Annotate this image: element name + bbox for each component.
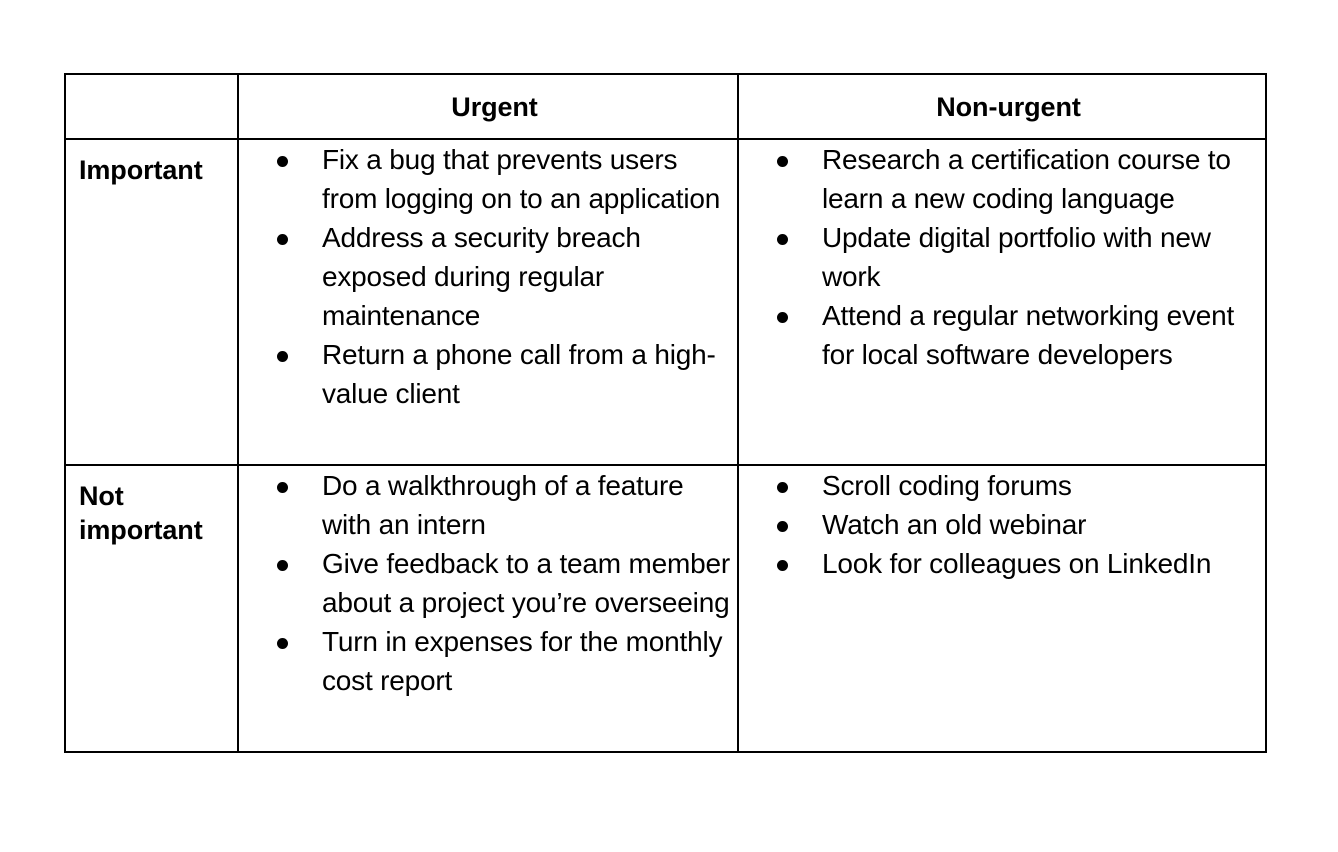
list-item: Attend a regular networking event for lo… bbox=[739, 296, 1265, 374]
column-header-non-urgent-label: Non-urgent bbox=[739, 75, 1265, 123]
bullet-icon bbox=[277, 560, 288, 571]
task-text: Do a walkthrough of a feature with an in… bbox=[322, 466, 737, 544]
task-text: Watch an old webinar bbox=[822, 505, 1265, 544]
bullet-icon bbox=[277, 482, 288, 493]
bullet-icon bbox=[277, 638, 288, 649]
list-item: Turn in expenses for the monthly cost re… bbox=[239, 622, 737, 700]
bullet-icon bbox=[777, 482, 788, 493]
task-text: Research a certification course to learn… bbox=[822, 140, 1265, 218]
bullet-icon bbox=[777, 156, 788, 167]
list-item: Do a walkthrough of a feature with an in… bbox=[239, 466, 737, 544]
bullet-icon bbox=[777, 521, 788, 532]
task-list-not-important-non-urgent: Scroll coding forums Watch an old webina… bbox=[739, 466, 1265, 583]
task-list-important-non-urgent: Research a certification course to learn… bbox=[739, 140, 1265, 374]
bullet-icon bbox=[777, 234, 788, 245]
column-header-non-urgent: Non-urgent bbox=[738, 74, 1266, 139]
row-header-not-important-label: Not important bbox=[66, 466, 237, 547]
table-row-not-important: Not important Do a walkthrough of a feat… bbox=[65, 465, 1266, 752]
task-text: Give feedback to a team member about a p… bbox=[322, 544, 737, 622]
list-item: Return a phone call from a high-value cl… bbox=[239, 335, 737, 413]
list-item: Address a security breach exposed during… bbox=[239, 218, 737, 335]
bullet-icon bbox=[277, 156, 288, 167]
task-text: Address a security breach exposed during… bbox=[322, 218, 737, 335]
row-header-not-important: Not important bbox=[65, 465, 238, 752]
cell-not-important-non-urgent: Scroll coding forums Watch an old webina… bbox=[738, 465, 1266, 752]
cell-important-urgent: Fix a bug that prevents users from loggi… bbox=[238, 139, 738, 465]
task-text: Update digital portfolio with new work bbox=[822, 218, 1265, 296]
task-list-important-urgent: Fix a bug that prevents users from loggi… bbox=[239, 140, 737, 413]
list-item: Update digital portfolio with new work bbox=[739, 218, 1265, 296]
list-item: Look for colleagues on LinkedIn bbox=[739, 544, 1265, 583]
bullet-icon bbox=[777, 312, 788, 323]
cell-important-non-urgent: Research a certification course to learn… bbox=[738, 139, 1266, 465]
cell-not-important-urgent: Do a walkthrough of a feature with an in… bbox=[238, 465, 738, 752]
list-item: Fix a bug that prevents users from loggi… bbox=[239, 140, 737, 218]
task-text: Scroll coding forums bbox=[822, 466, 1265, 505]
list-item: Research a certification course to learn… bbox=[739, 140, 1265, 218]
row-header-important: Important bbox=[65, 139, 238, 465]
row-header-important-label: Important bbox=[66, 140, 237, 187]
bullet-icon bbox=[777, 560, 788, 571]
corner-label bbox=[66, 75, 237, 91]
list-item: Watch an old webinar bbox=[739, 505, 1265, 544]
corner-cell bbox=[65, 74, 238, 139]
task-text: Fix a bug that prevents users from loggi… bbox=[322, 140, 737, 218]
bullet-icon bbox=[277, 351, 288, 362]
task-text: Return a phone call from a high-value cl… bbox=[322, 335, 737, 413]
table-row-important: Important Fix a bug that prevents users … bbox=[65, 139, 1266, 465]
task-list-not-important-urgent: Do a walkthrough of a feature with an in… bbox=[239, 466, 737, 700]
task-text: Turn in expenses for the monthly cost re… bbox=[322, 622, 737, 700]
list-item: Give feedback to a team member about a p… bbox=[239, 544, 737, 622]
table-header: Urgent Non-urgent bbox=[65, 74, 1266, 139]
table-body: Important Fix a bug that prevents users … bbox=[65, 139, 1266, 752]
task-text: Look for colleagues on LinkedIn bbox=[822, 544, 1265, 583]
eisenhower-matrix-table: Urgent Non-urgent Important Fix a bug th… bbox=[64, 73, 1267, 753]
header-row: Urgent Non-urgent bbox=[65, 74, 1266, 139]
column-header-urgent-label: Urgent bbox=[239, 75, 737, 123]
task-text: Attend a regular networking event for lo… bbox=[822, 296, 1265, 374]
page-canvas: Urgent Non-urgent Important Fix a bug th… bbox=[0, 0, 1338, 852]
list-item: Scroll coding forums bbox=[739, 466, 1265, 505]
bullet-icon bbox=[277, 234, 288, 245]
column-header-urgent: Urgent bbox=[238, 74, 738, 139]
